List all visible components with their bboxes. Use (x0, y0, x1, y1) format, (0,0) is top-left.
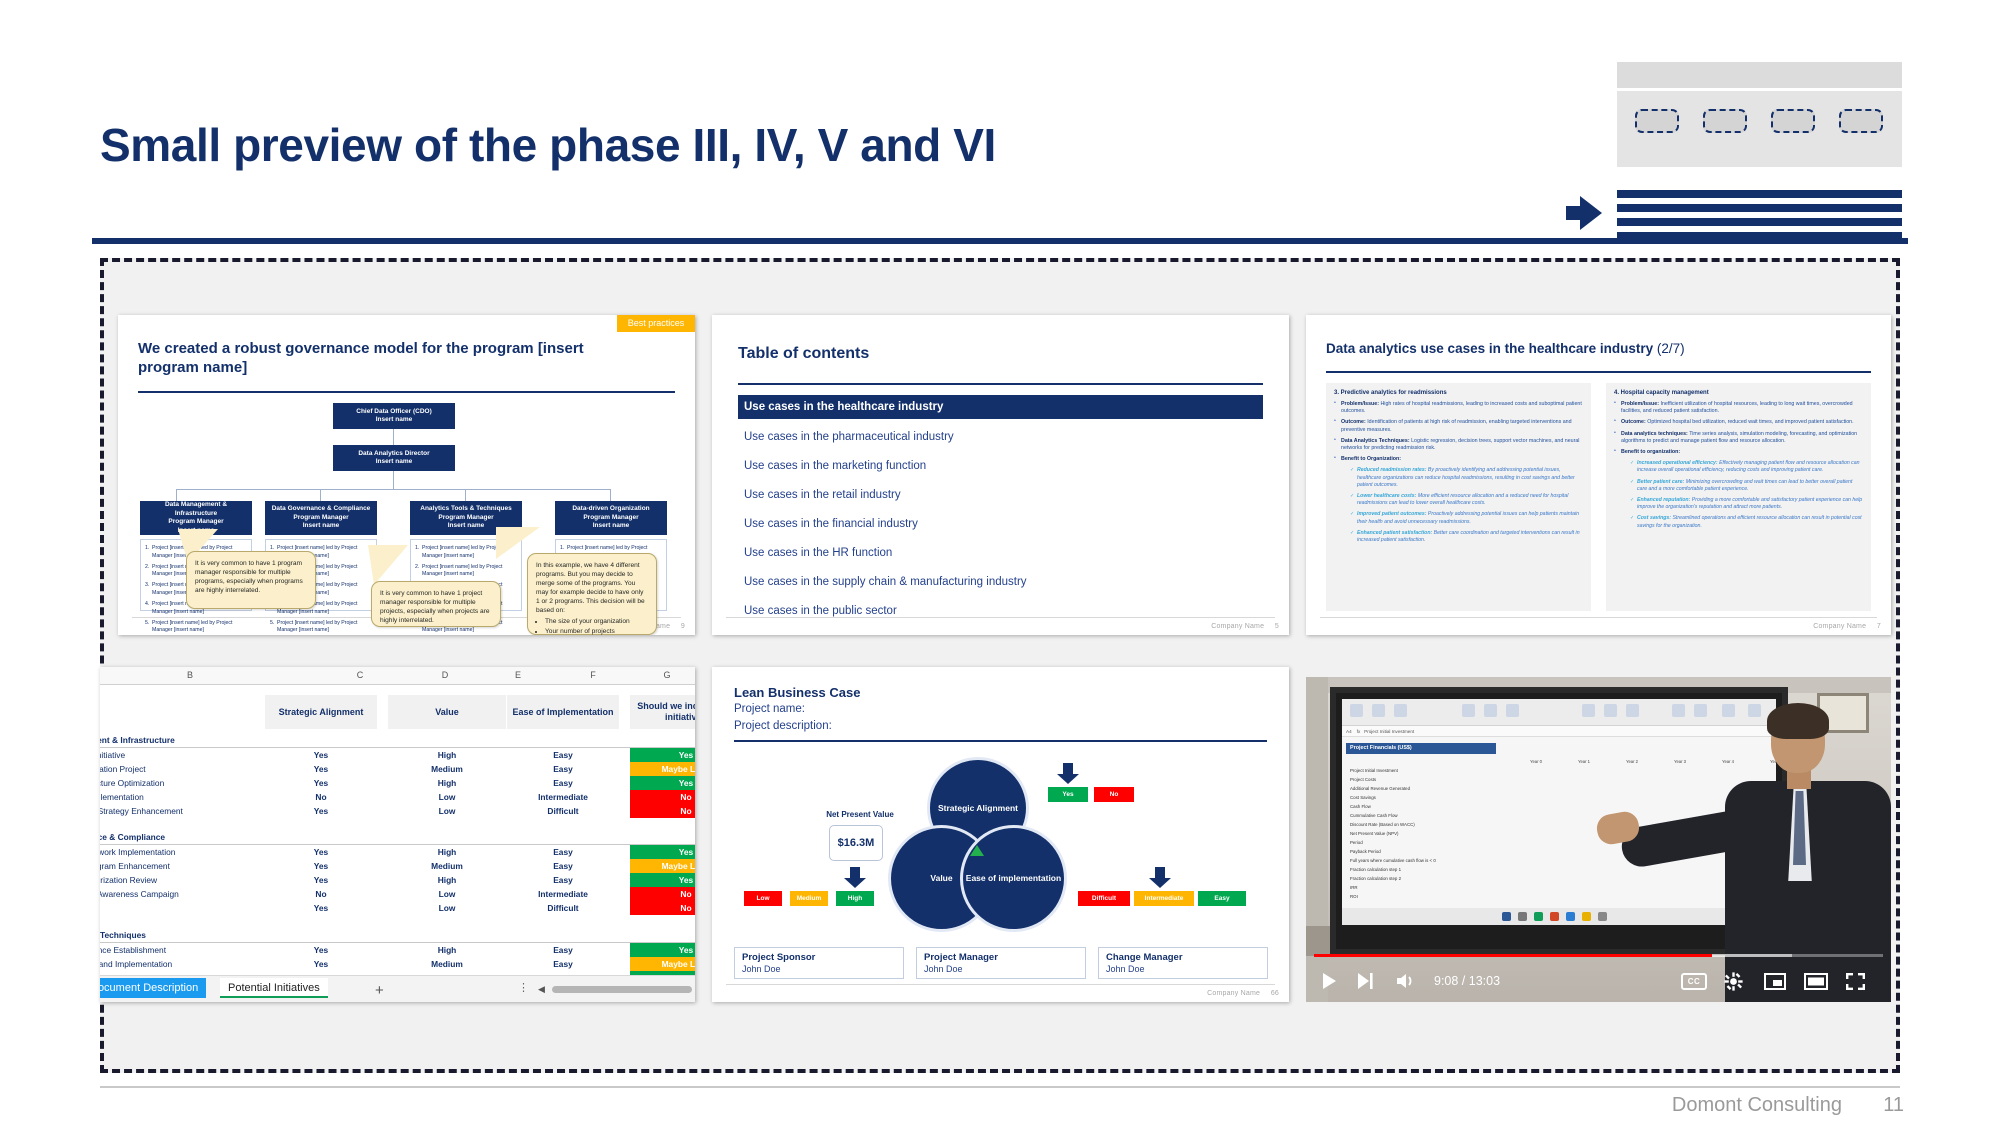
row-value: High (388, 943, 506, 957)
row-label: Data Governance Framework Implementation (100, 845, 175, 859)
row-decision: Maybe Later (630, 762, 695, 776)
usecase-column-3: 3. Predictive analytics for readmissions… (1326, 383, 1591, 611)
phase-chip-4 (1839, 109, 1883, 133)
row-label: Analytics Model Development and Implemen… (100, 957, 172, 971)
video-controls[interactable]: 9:08 / 13:03 CC (1306, 950, 1891, 1002)
spreadsheet-group-3: Analytics Tools & Techniques (100, 928, 146, 942)
excel-row-label: IRR (1350, 883, 1358, 892)
table-row[interactable]: Data Quality Initiative Yes High Easy Ye… (100, 748, 695, 762)
row-decision: No (630, 804, 695, 818)
phase-arrow-icon (1580, 196, 1602, 230)
business-case-title: Lean Business Case (734, 685, 860, 700)
row-value: Medium (388, 957, 506, 971)
usecase-3-sub-2: Lower healthcare costs: More efficient r… (1350, 493, 1583, 507)
row-alignment: Yes (265, 901, 377, 915)
table-row[interactable]: Data Storage Strategy Enhancement Yes Lo… (100, 804, 695, 818)
phase-stripes (1617, 190, 1902, 242)
row-decision: Yes (630, 845, 695, 859)
col-letter-b[interactable]: B (100, 667, 280, 684)
role-project-sponsor: Project Sponsor John Doe (734, 947, 904, 979)
phase-chip-2 (1703, 109, 1747, 133)
connector-drop-2 (320, 489, 321, 501)
usecases-footer-rule (1320, 617, 1877, 618)
excel-row-label: Discount Rate (Based on WACC) (1350, 820, 1415, 829)
connector-cdo-director (393, 429, 394, 445)
year-header-2: Year 2 (1598, 757, 1638, 766)
row-alignment: Yes (265, 873, 377, 887)
row-value: Low (388, 804, 506, 818)
npv-chip-low: Low (744, 891, 782, 906)
row-decision: Yes (630, 776, 695, 790)
excel-row-label: Payback Period (1350, 847, 1381, 856)
row-value: High (388, 748, 506, 762)
usecase-3-bullet-techniques: Data Analytics Techniques: Logistic regr… (1334, 438, 1583, 452)
connector-horizontal (176, 489, 610, 490)
role-title: Change Manager (1106, 952, 1260, 963)
row-label: Data Centralization Project (100, 762, 146, 776)
row-label: Data Ethics and Awareness Campaign (100, 887, 179, 901)
business-case-footer: Company Name 66 (1207, 990, 1279, 997)
row-alignment: Yes (265, 804, 377, 818)
table-row[interactable]: Data Lake Implementation No Low Intermed… (100, 790, 695, 804)
year-header-1: Year 1 (1550, 757, 1590, 766)
npv-label: Net Present Value (810, 810, 910, 819)
add-sheet-button[interactable]: + (375, 982, 384, 999)
miniplayer-button[interactable] (1764, 973, 1786, 990)
volume-button[interactable] (1396, 973, 1416, 989)
row-ease: Easy (507, 762, 619, 776)
table-row[interactable]: Data Privacy Program Enhancement Yes Med… (100, 859, 695, 873)
footer-page-number: 11 (1883, 1094, 1904, 1117)
project-description-label: Project description: (734, 720, 832, 732)
toc-title-rule (738, 383, 1263, 385)
usecase-3-bullet-benefit: Benefit to Organization: (1334, 456, 1583, 463)
callout-program-manager: It is very common to have 1 program mana… (186, 551, 316, 609)
usecase-4-bullet-problem: Problem/Issue: Inefficient utilization o… (1614, 401, 1863, 415)
slide: Small preview of the phase III, IV, V an… (0, 0, 2000, 1125)
excel-row-label: ROI (1350, 892, 1358, 901)
panel-table-of-contents[interactable]: Table of contents Use cases in the healt… (712, 315, 1289, 635)
row-value: Low (388, 790, 506, 804)
captions-button[interactable]: CC (1681, 973, 1707, 990)
ease-chip-easy: Easy (1198, 891, 1246, 906)
npv-value-box: $16.3M (829, 825, 883, 861)
alignment-chip-no: No (1094, 787, 1134, 802)
usecase-3-bullet-problem: Problem/Issue: High rates of hospital re… (1334, 401, 1583, 415)
spreadsheet-tab-bar: Document Description Potential Initiativ… (100, 975, 695, 1002)
video-progress-buffered (1712, 954, 1792, 957)
table-row[interactable]: Data Centralization Project Yes Medium E… (100, 762, 695, 776)
row-value: Medium (388, 859, 506, 873)
ease-chip-intermediate: Intermediate (1134, 891, 1194, 906)
table-row[interactable]: Data Governance Framework Implementation… (100, 845, 695, 859)
npv-down-arrow-icon (844, 867, 866, 888)
sheet-tab-potential-initiatives[interactable]: Potential Initiatives (220, 978, 328, 998)
npv-chip-medium: Medium (790, 891, 828, 906)
panel-use-cases[interactable]: Data analytics use cases in the healthca… (1306, 315, 1891, 635)
excel-row-label: Project Costs (1350, 775, 1376, 784)
business-case-rule (734, 740, 1267, 742)
row-ease: Easy (507, 943, 619, 957)
table-row[interactable]: Data Access Authorization Review Yes Hig… (100, 873, 695, 887)
connector-drop-4 (610, 489, 611, 501)
row-ease: Intermediate (507, 790, 619, 804)
governance-title: We created a robust governance model for… (138, 339, 648, 377)
spreadsheet-group-1: Data Management & Infrastructure (100, 733, 175, 747)
row-value: Medium (388, 762, 506, 776)
callout-project-manager: It is very common to have 1 project mana… (371, 581, 501, 627)
usecase-4-bullet-techniques: Data analytics techniques: Time series a… (1614, 431, 1863, 445)
ease-chip-difficult: Difficult (1078, 891, 1130, 906)
usecase-3-sub-1: Reduced readmission rates: By proactivel… (1350, 467, 1583, 489)
excel-row-label: Cash Flow (1350, 802, 1371, 811)
video-control-bar: 9:08 / 13:03 CC (1306, 960, 1891, 1002)
usecases-title-rule (1326, 371, 1871, 373)
phase-stripe-3 (1617, 218, 1902, 226)
excel-banner: Project Financials (US$) (1346, 743, 1496, 754)
toc-item-marketing[interactable]: Use cases in the marketing function (738, 454, 1263, 478)
row-alignment: Yes (265, 943, 377, 957)
excel-row-label: Fraction calculation step 1 (1350, 865, 1401, 874)
row-alignment: Yes (265, 776, 377, 790)
connector-director-down (393, 471, 394, 489)
row-value: High (388, 845, 506, 859)
row-decision: No (630, 790, 695, 804)
row-ease: Easy (507, 748, 619, 762)
row-ease: Difficult (507, 804, 619, 818)
toc-title: Table of contents (738, 345, 869, 363)
callout-example: In this example, we have 4 different pro… (527, 553, 657, 635)
video-timestamp: 9:08 / 13:03 (1434, 960, 1500, 1002)
usecase-3-bullet-outcome: Outcome: Identification of patients at h… (1334, 419, 1583, 433)
row-label: Analytics Center of Excellence Establish… (100, 943, 166, 957)
org-box-manager-4: Data-driven Organization Program Manager… (555, 501, 667, 535)
next-button[interactable] (1356, 972, 1374, 990)
row-ease: Difficult (507, 901, 619, 915)
gear-icon[interactable] (1724, 972, 1743, 991)
npv-chip-high: High (836, 891, 874, 906)
phase-stripe-2 (1617, 204, 1902, 212)
header-strategic-alignment: Strategic Alignment (265, 695, 377, 729)
toc-item-financial[interactable]: Use cases in the financial industry (738, 512, 1263, 536)
callout-example-list: The size of your organization Your numbe… (536, 617, 648, 635)
spreadsheet-group-2: Data Governance & Compliance (100, 830, 165, 844)
phase-stripe-1 (1617, 190, 1902, 198)
toc-footer-rule (726, 617, 1275, 618)
play-button[interactable] (1320, 972, 1338, 990)
usecase-4-bullet-benefit: Benefit to organization: (1614, 449, 1863, 456)
callout-tail-project (368, 545, 408, 585)
row-decision: Yes (630, 748, 695, 762)
phase-stripe-4 (1617, 232, 1902, 240)
phase-indicator-graphic (1617, 62, 1902, 187)
col-letter-c[interactable]: C (300, 667, 420, 684)
project-name-label: Project name: (734, 703, 805, 715)
row-decision: Maybe Later (630, 957, 695, 971)
row-alignment: Yes (265, 748, 377, 762)
row-value: High (388, 776, 506, 790)
toc-item-pharmaceutical[interactable]: Use cases in the pharmaceutical industry (738, 425, 1263, 449)
row-label: Data Infrastructure Optimization (100, 776, 164, 790)
video-progress-played (1314, 954, 1712, 957)
row-decision: Yes (630, 943, 695, 957)
usecases-footer: Company Name 7 (1813, 623, 1881, 630)
director-role: Data Analytics Director (358, 450, 429, 457)
table-row[interactable]: Analytics Center of Excellence Establish… (100, 943, 695, 957)
header-should-we-include: Should we include this initiative? (630, 695, 695, 729)
excel-row-label: Cost Savings (1350, 793, 1376, 802)
toc-item-supply-chain[interactable]: Use cases in the supply chain & manufact… (738, 570, 1263, 594)
excel-row-label: Cummulative Cash Flow (1350, 811, 1398, 820)
usecase-3-sub-4: Enhanced patient satisfaction: Better ca… (1350, 530, 1583, 544)
usecase-4-sub-3: Enhanced reputation: Providing a more co… (1630, 497, 1863, 511)
row-ease: Intermediate (507, 887, 619, 901)
venn-circle-ease: Ease of implementation (960, 825, 1067, 932)
cdo-name: Insert name (376, 416, 413, 423)
ease-down-arrow-icon (1149, 867, 1171, 888)
usecase-column-4: 4. Hospital capacity management Problem/… (1606, 383, 1871, 611)
excel-row-label: Period (1350, 838, 1363, 847)
role-title: Project Manager (924, 952, 1078, 963)
row-label: Data Access Authorization Review (100, 873, 157, 887)
toc-item-public-sector[interactable]: Use cases in the public sector (738, 599, 1263, 623)
toc-item-hr[interactable]: Use cases in the HR function (738, 541, 1263, 565)
org-box-director: Data Analytics Director Insert name (333, 445, 455, 471)
org-box-cdo: Chief Data Officer (CDO) Insert name (333, 403, 455, 429)
theater-button[interactable] (1804, 973, 1828, 990)
col-letter-f[interactable]: F (578, 667, 608, 684)
scroll-left-arrow[interactable]: ◀ (538, 984, 545, 995)
header-ease-of-implementation: Ease of Implementation (507, 695, 619, 729)
role-name: John Doe (924, 964, 1078, 974)
excel-row-label: Full years where cumulative cash flow is… (1350, 856, 1436, 865)
role-name: John Doe (742, 964, 896, 974)
row-label: Data Privacy Program Enhancement (100, 859, 170, 873)
usecase-4-sub-1: Increased operational efficiency: Effect… (1630, 460, 1863, 474)
spreadsheet-column-headers: B C D E F G H I (100, 667, 695, 685)
best-practices-badge: Best practices (617, 315, 695, 332)
usecase-4-heading: 4. Hospital capacity management (1614, 390, 1863, 396)
footer-brand: Domont Consulting (1672, 1094, 1842, 1117)
panel-video-player[interactable]: A4 fx Project Initial Investment Project… (1306, 677, 1891, 1002)
row-decision: Yes (630, 873, 695, 887)
fullscreen-button[interactable] (1846, 973, 1865, 990)
row-decision: No (630, 887, 695, 901)
row-alignment: Yes (265, 957, 377, 971)
excel-row-label: Additional Revenue Generated (1350, 784, 1410, 793)
usecase-3-sub-3: Improved patient outcomes: Proactively a… (1350, 511, 1583, 525)
connector-drop-1 (176, 489, 177, 501)
role-project-manager: Project Manager John Doe (916, 947, 1086, 979)
usecase-3-heading: 3. Predictive analytics for readmissions (1334, 390, 1583, 396)
row-label: Data Lake Implementation (100, 790, 144, 804)
row-decision: No (630, 901, 695, 915)
cdo-role: Chief Data Officer (CDO) (356, 408, 431, 415)
role-name: John Doe (1106, 964, 1260, 974)
year-header-0: Year 0 (1502, 757, 1542, 766)
formula-content: Project Initial Investment (1364, 729, 1414, 734)
org-box-manager-2: Data Governance & Compliance Program Man… (265, 501, 377, 535)
row-alignment: Yes (265, 762, 377, 776)
presenter-hair (1767, 703, 1829, 739)
row-decision: Maybe Later (630, 859, 695, 873)
toc-item-healthcare[interactable]: Use cases in the healthcare industry (738, 395, 1263, 419)
governance-title-rule (138, 391, 675, 393)
header-value: Value (388, 695, 506, 729)
toc-item-retail[interactable]: Use cases in the retail industry (738, 483, 1263, 507)
sheet-overflow-menu[interactable]: ⋮ (518, 981, 529, 994)
row-alignment: Yes (265, 845, 377, 859)
col-letter-e[interactable]: E (468, 667, 568, 684)
page-title: Small preview of the phase III, IV, V an… (100, 118, 996, 172)
table-row[interactable]: Yes Low Difficult No (100, 901, 695, 915)
row-ease: Easy (507, 776, 619, 790)
alignment-down-arrow-icon (1057, 763, 1079, 784)
row-label: Data Quality Initiative (100, 748, 125, 762)
row-ease: Easy (507, 859, 619, 873)
video-progress-bar[interactable] (1314, 954, 1883, 957)
phase-chip-1 (1635, 109, 1679, 133)
usecase-4-sub-2: Better patient care: Minimizing overcrow… (1630, 479, 1863, 493)
usecases-title-suffix: (2/7) (1657, 341, 1685, 356)
row-value: Low (388, 901, 506, 915)
table-row[interactable]: Analytics Model Development and Implemen… (100, 957, 695, 971)
row-value: Low (388, 887, 506, 901)
excel-row-label: Fraction calculation step 2 (1350, 874, 1401, 883)
panel-lean-business-case[interactable]: Lean Business Case Project name: Project… (712, 667, 1289, 1002)
row-alignment: No (265, 887, 377, 901)
phase-bar-top (1617, 62, 1902, 88)
col-letter-d[interactable]: D (430, 667, 460, 684)
table-row[interactable]: Data Infrastructure Optimization Yes Hig… (100, 776, 695, 790)
excel-row-label: Net Present Value (NPV) (1350, 829, 1398, 838)
connector-drop-3 (465, 489, 466, 501)
usecase-4-bullet-outcome: Outcome: Optimized hospital bed utilizat… (1614, 419, 1863, 426)
row-ease: Easy (507, 873, 619, 887)
row-value: High (388, 873, 506, 887)
usecases-title: Data analytics use cases in the healthca… (1326, 341, 1685, 356)
excel-row-label: Project Initial Investment (1350, 766, 1398, 775)
year-header-3: Year 3 (1646, 757, 1686, 766)
row-label: Data Storage Strategy Enhancement (100, 804, 183, 818)
director-name: Insert name (376, 458, 413, 465)
footer-rule (100, 1086, 1900, 1088)
row-alignment: Yes (265, 859, 377, 873)
business-case-footer-rule (726, 984, 1275, 985)
toc-footer: Company Name 5 (1211, 623, 1279, 630)
row-ease: Easy (507, 845, 619, 859)
row-alignment: No (265, 790, 377, 804)
role-change-manager: Change Manager John Doe (1098, 947, 1268, 979)
role-title: Project Sponsor (742, 952, 896, 963)
col-letter-g[interactable]: G (612, 667, 695, 684)
alignment-chip-yes: Yes (1048, 787, 1088, 802)
horizontal-scrollbar[interactable] (552, 986, 692, 993)
panel-spreadsheet[interactable]: B C D E F G H I Strategic Alignment Valu… (100, 667, 695, 1002)
venn-center-marker (970, 845, 984, 856)
panel-governance-model[interactable]: Best practices We created a robust gover… (118, 315, 695, 635)
sheet-tab-document-description[interactable]: Document Description (100, 978, 206, 998)
row-ease: Easy (507, 957, 619, 971)
cell-reference: A4 (1346, 729, 1352, 734)
phase-chip-3 (1771, 109, 1815, 133)
usecase-4-sub-4: Cost savings: Streamlined operations and… (1630, 515, 1863, 529)
table-row[interactable]: Data Ethics and Awareness Campaign No Lo… (100, 887, 695, 901)
